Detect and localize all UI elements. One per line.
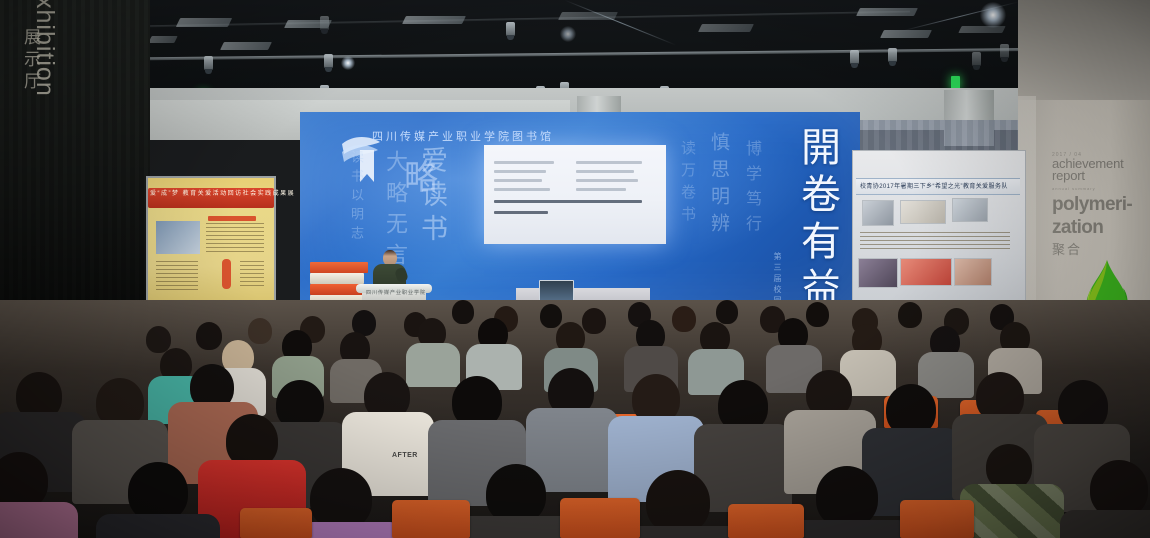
exhibit-photo <box>900 258 952 286</box>
right-exhibit-banner-text: 校青协2017年暑期三下乡“希望之光”教育关爱服务队 <box>860 181 1008 190</box>
spotlight-icon <box>324 54 333 69</box>
backdrop-calligraphy-e: 博学笃行 <box>740 140 764 240</box>
left-poster-headline: 爱“成”梦 教育关爱活动回访社会实践成果展 <box>150 188 295 197</box>
ceiling-panel-light <box>880 30 932 38</box>
poster-big-line2: zation <box>1052 219 1146 237</box>
poster-big-line1: polymeri- <box>1052 196 1146 214</box>
backdrop-calligraphy-c: 读书以明志 <box>346 150 365 245</box>
seat <box>900 500 974 538</box>
spotlight-icon <box>850 50 859 65</box>
ceiling-panel-light <box>958 26 1005 33</box>
poster-chinese: 聚合 <box>1052 239 1146 258</box>
seat <box>240 508 312 538</box>
backdrop-calligraphy-f: 读万卷书 <box>678 140 699 228</box>
spotlight-glow <box>560 26 576 42</box>
ceiling-panel-light <box>148 36 177 43</box>
exhibition-sign-chinese: 展示厅 <box>18 28 43 94</box>
spotlight-icon <box>888 48 897 63</box>
seat <box>560 498 640 538</box>
exhibit-text-block <box>860 232 1010 250</box>
shirt-graphic-text: AFTER <box>392 452 418 459</box>
exhibit-photo <box>858 258 898 288</box>
exhibit-photo <box>862 200 894 226</box>
ceiling-panel-light <box>856 8 918 16</box>
seat <box>392 500 470 538</box>
exhibition-hall-photo: xhibition 展示厅 四川传媒产业职业学院图书馆 爱读书 大略无言 读书以… <box>0 0 1150 538</box>
poster-kicker: 2017 / 04 <box>1052 152 1146 158</box>
exhibit-photo <box>954 258 992 286</box>
poster-heading-line2: report <box>1052 170 1146 182</box>
backdrop-header-text: 四川传媒产业职业学院图书馆 <box>372 128 554 144</box>
ceiling-panel-light <box>176 18 232 27</box>
projection-screen <box>484 145 666 244</box>
ceiling-panel-light <box>698 24 754 32</box>
podium-label: 四川传媒产业职业学院 <box>366 289 426 296</box>
backdrop-main-calligraphy: 開卷有益 <box>788 126 846 314</box>
ceiling-panel-light <box>402 16 466 24</box>
exhibit-photo <box>900 200 946 224</box>
spotlight-icon <box>972 52 981 67</box>
spotlight-icon <box>1000 44 1009 59</box>
poster-subtitle: annual summary <box>1052 186 1146 191</box>
exhibit-photo <box>952 198 988 222</box>
seat <box>728 504 804 538</box>
ceiling-panel-light <box>220 42 272 50</box>
spotlight-icon <box>506 22 515 37</box>
right-wall-upper <box>1018 0 1150 100</box>
spotlight-icon <box>320 16 329 31</box>
backdrop-large-char: 略 <box>404 150 438 199</box>
achievement-report-poster: 2017 / 04 achievement report annual summ… <box>1052 152 1146 258</box>
spotlight-icon <box>204 56 213 71</box>
spotlight-glow <box>341 56 355 70</box>
backdrop-calligraphy-d: 慎思明辨 <box>706 132 733 240</box>
